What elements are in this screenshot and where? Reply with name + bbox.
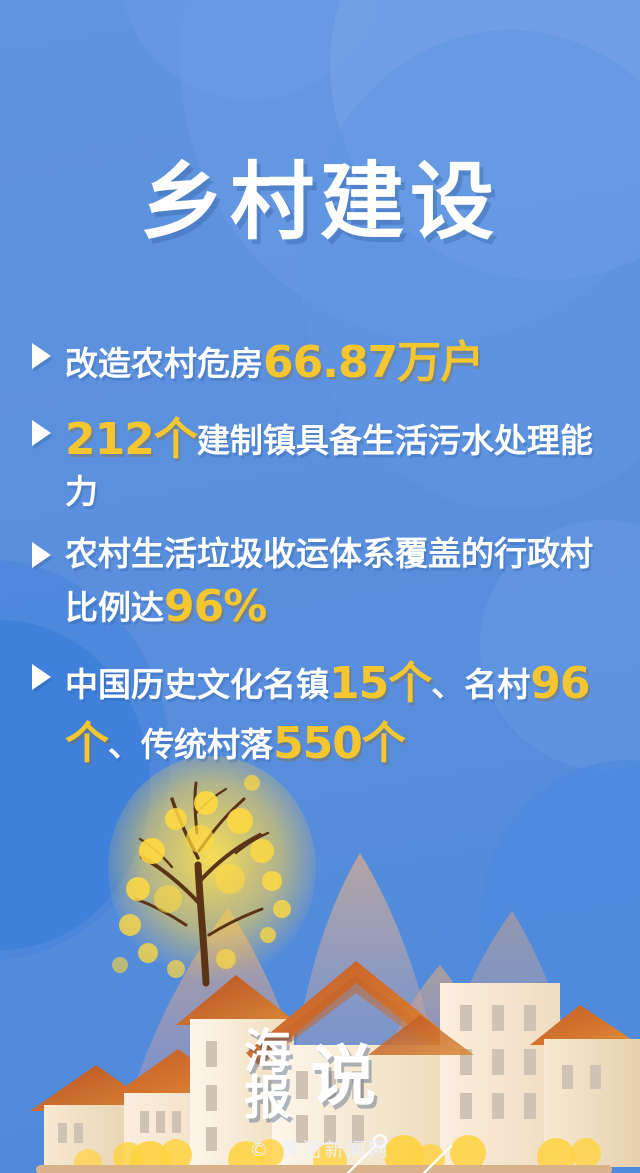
triangle-right-icon	[32, 343, 51, 369]
list-item-text: 中国历史文化名镇15个、名村96个、传统村落550个	[65, 654, 622, 773]
page-title: 乡村建设	[0, 160, 640, 244]
text-segment: 农村生活垃圾收运体系覆盖的行政村比例达	[65, 534, 593, 627]
highlight-value: 550个	[273, 718, 405, 769]
highlight-value: 15个	[329, 658, 431, 709]
list-item: 改造农村危房66.87万户	[26, 333, 622, 392]
ground-line	[36, 1165, 612, 1173]
list-item-text: 212个建制镇具备生活污水处理能力	[65, 410, 622, 514]
text-segment: 、名村	[431, 665, 530, 704]
list-item: 212个建制镇具备生活污水处理能力	[26, 410, 622, 514]
text-segment: 中国历史文化名镇	[65, 665, 329, 704]
highlight-value: 212个	[65, 414, 197, 465]
text-segment: 改造农村危房	[65, 344, 263, 383]
footer-credit: © 黄河新闻网	[0, 1135, 640, 1162]
triangle-right-icon	[32, 420, 51, 446]
list-item: 农村生活垃圾收运体系覆盖的行政村比例达96%	[26, 532, 622, 636]
highlight-value: 66.87万户	[263, 337, 483, 388]
triangle-right-icon	[32, 542, 51, 568]
statistics-list: 改造农村危房66.87万户 212个建制镇具备生活污水处理能力 农村生活垃圾收运…	[26, 333, 622, 791]
poster-root: 乡村建设 改造农村危房66.87万户 212个建制镇具备生活污水处理能力 农村生…	[0, 0, 640, 1173]
list-item: 中国历史文化名镇15个、名村96个、传统村落550个	[26, 654, 622, 773]
list-item-text: 改造农村危房66.87万户	[65, 333, 483, 392]
triangle-right-icon	[32, 664, 51, 690]
highlight-value: 96%	[164, 581, 266, 632]
list-item-text: 农村生活垃圾收运体系覆盖的行政村比例达96%	[65, 532, 622, 636]
text-segment: 、传统村落	[108, 725, 273, 764]
